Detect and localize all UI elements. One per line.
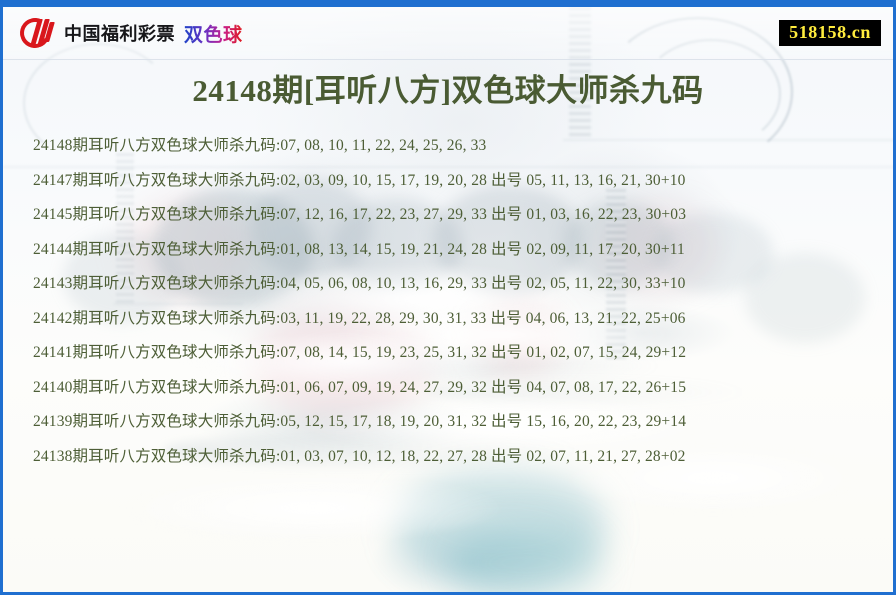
list-item: 24142期耳听八方双色球大师杀九码:03, 11, 19, 22, 28, 2… [33,301,863,336]
brand-game-label: 双色球 [184,20,243,47]
list-item: 24144期耳听八方双色球大师杀九码:01, 08, 13, 14, 15, 1… [33,232,863,267]
list-item: 24145期耳听八方双色球大师杀九码:07, 12, 16, 17, 22, 2… [33,198,863,233]
list-item: 24143期耳听八方双色球大师杀九码:04, 05, 06, 08, 10, 1… [33,267,863,302]
list-item: 24140期耳听八方双色球大师杀九码:01, 06, 07, 09, 19, 2… [33,370,863,405]
list-item: 24141期耳听八方双色球大师杀九码:07, 08, 14, 15, 19, 2… [33,336,863,371]
brand-block[interactable]: 中国福利彩票 双色球 [19,16,243,50]
prediction-list: 24148期耳听八方双色球大师杀九码:07, 08, 10, 11, 22, 2… [3,129,893,474]
site-header: 中国福利彩票 双色球 518158.cn [3,3,893,60]
site-domain-badge: 518158.cn [779,20,881,47]
brand-name-label: 中国福利彩票 [64,20,175,46]
list-item: 24148期耳听八方双色球大师杀九码:07, 08, 10, 11, 22, 2… [33,129,863,164]
list-item: 24147期耳听八方双色球大师杀九码:02, 03, 09, 10, 15, 1… [33,163,863,198]
china-welfare-lottery-logo-icon [19,16,55,50]
page-title: 24148期[耳听八方]双色球大师杀九码 [3,72,893,111]
page-root: 中国福利彩票 双色球 518158.cn 24148期[耳听八方]双色球大师杀九… [0,0,896,595]
list-item: 24138期耳听八方双色球大师杀九码:01, 03, 07, 10, 12, 1… [33,439,863,474]
list-item: 24139期耳听八方双色球大师杀九码:05, 12, 15, 17, 18, 1… [33,405,863,440]
